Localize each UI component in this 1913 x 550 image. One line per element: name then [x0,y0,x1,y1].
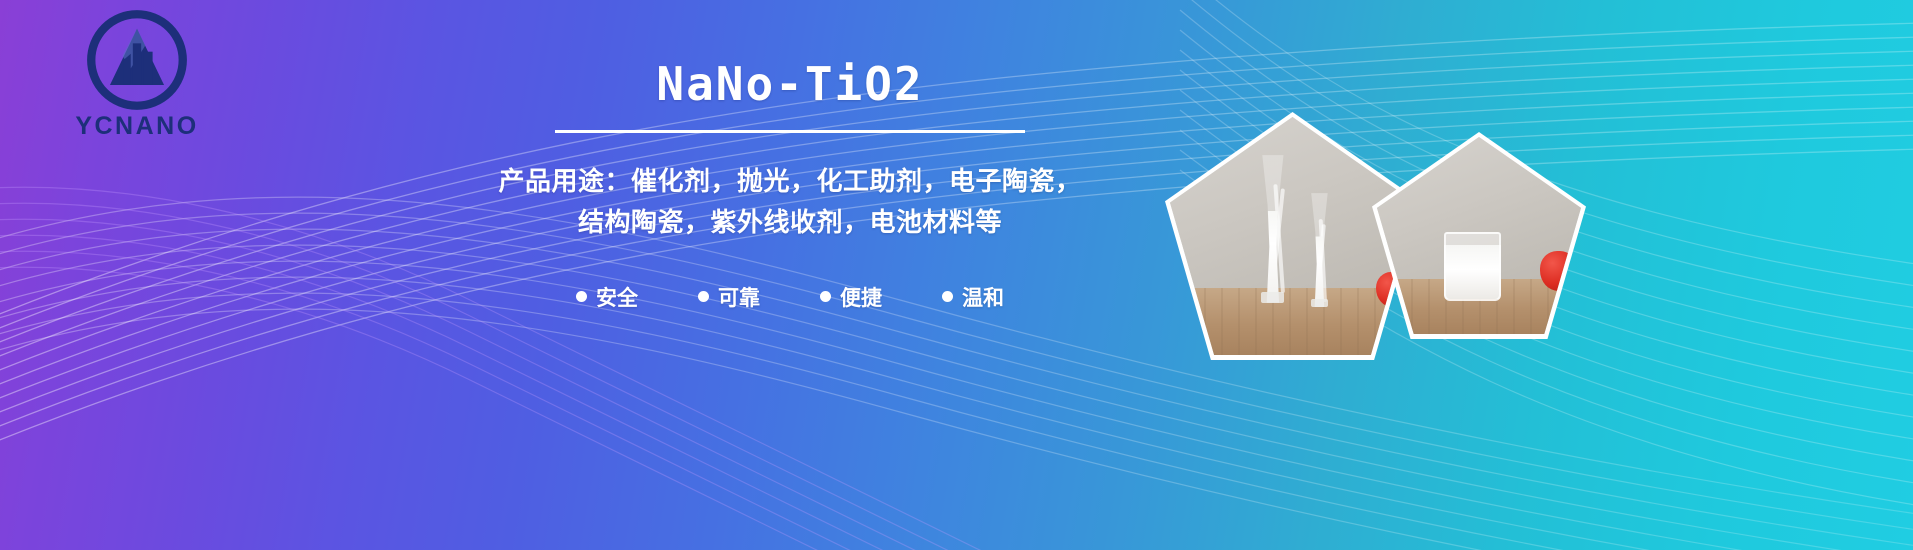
logo-wordmark: YCNANO [75,114,198,139]
company-logo[interactable]: YCNANO [42,8,232,158]
product-usage-text: 产品用途：催化剂，抛光，化工助剂，电子陶瓷， 结构陶瓷，紫外线收剂，电池材料等 [470,161,1110,242]
bullet-dot-icon [698,291,709,302]
photo-backdrop [1170,117,1415,288]
feature-list: 安全 可靠 便捷 温和 [470,282,1110,312]
product-banner: YCNANO NaNo-TiO2 产品用途：催化剂，抛光，化工助剂，电子陶瓷， … [0,0,1913,550]
feature-item-reliable: 可靠 [668,282,790,312]
usage-line-2: 结构陶瓷，紫外线收剂，电池材料等 [470,202,1110,242]
product-photo-beaker-image [1377,137,1581,334]
banner-content: NaNo-TiO2 产品用途：催化剂，抛光，化工助剂，电子陶瓷， 结构陶瓷，紫外… [470,60,1110,312]
feature-label: 便捷 [840,282,882,312]
feature-label: 温和 [962,282,1004,312]
white-vase-large [1251,155,1295,303]
feature-item-mild: 温和 [912,282,1034,312]
glass-rod [1270,189,1285,294]
page-title: NaNo-TiO2 [470,60,1110,108]
bullet-dot-icon [820,291,831,302]
usage-line-1: 产品用途：催化剂，抛光，化工助剂，电子陶瓷， [470,161,1110,201]
feature-label: 安全 [596,282,638,312]
product-photo-vases-image [1170,117,1415,355]
feature-item-safe: 安全 [546,282,668,312]
red-apple [1376,272,1408,308]
glass-rod [1315,224,1326,303]
feature-label: 可靠 [718,282,760,312]
glass-rod [1274,184,1286,293]
photo-table [1377,279,1581,334]
glass-rod [1319,219,1327,302]
white-slurry-beaker [1444,232,1501,301]
photo-backdrop [1377,137,1581,279]
bullet-dot-icon [576,291,587,302]
red-apple [1540,251,1577,290]
circle-mountain-emblem-icon [85,8,189,112]
title-divider [555,130,1025,133]
feature-item-convenient: 便捷 [790,282,912,312]
white-vase-small [1302,193,1336,307]
product-photo-beaker [1372,132,1586,339]
bullet-dot-icon [942,291,953,302]
photo-table [1170,288,1415,355]
product-photo-vases [1165,112,1420,360]
